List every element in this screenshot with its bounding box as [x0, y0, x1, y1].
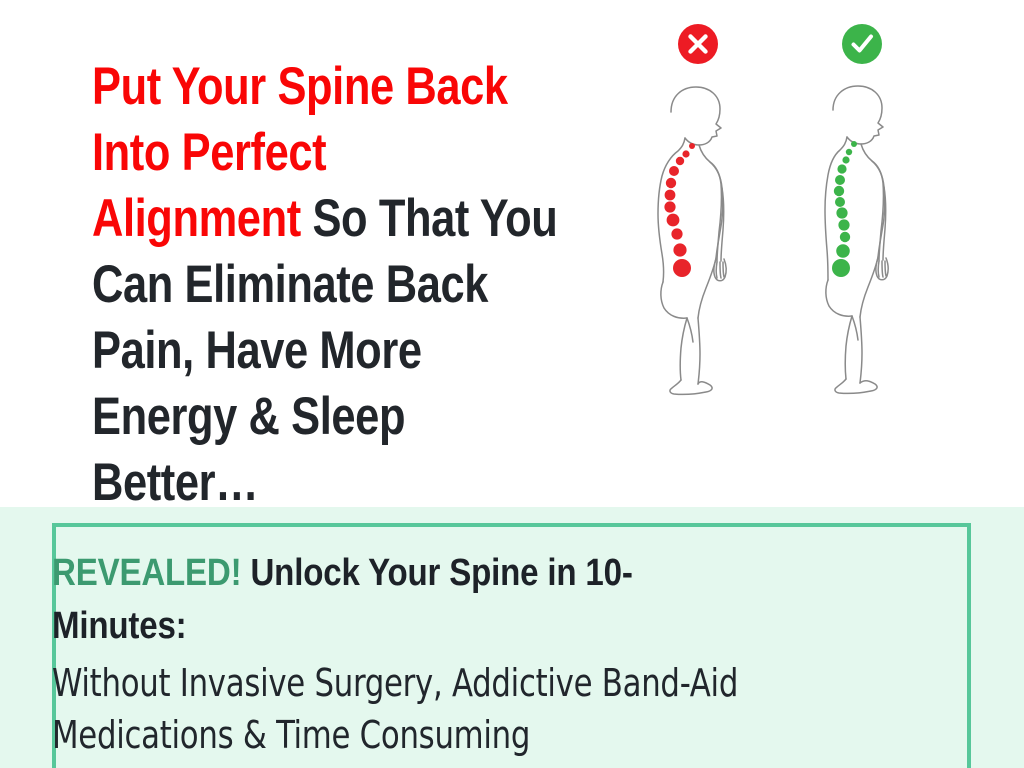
revealed-label: REVEALED! — [52, 552, 241, 594]
x-circle-icon — [678, 24, 718, 64]
good-posture-body-illustration — [802, 76, 922, 396]
hero-section: Put Your Spine Back Into Perfect Alignme… — [0, 0, 1024, 507]
promo-section: REVEALED! Unlock Your Spine in 10-Minute… — [0, 507, 1024, 768]
bad-posture-figure — [638, 18, 758, 408]
promo-subtitle: Without Invasive Surgery, Addictive Band… — [52, 657, 835, 761]
promo-title: REVEALED! Unlock Your Spine in 10-Minute… — [52, 547, 757, 653]
good-posture-figure — [802, 18, 922, 408]
promo-content: REVEALED! Unlock Your Spine in 10-Minute… — [52, 547, 952, 761]
posture-comparison-figures — [616, 18, 916, 408]
page-root: Put Your Spine Back Into Perfect Alignme… — [0, 0, 1024, 768]
page-headline: Put Your Spine Back Into Perfect Alignme… — [92, 54, 562, 516]
headline-red-line-2: Into Perfect — [92, 123, 326, 182]
headline-red-line-1: Put Your Spine Back — [92, 57, 508, 116]
check-circle-icon — [842, 24, 882, 64]
headline-red-line-3: Alignment — [92, 189, 301, 248]
bad-posture-body-illustration — [638, 76, 758, 396]
